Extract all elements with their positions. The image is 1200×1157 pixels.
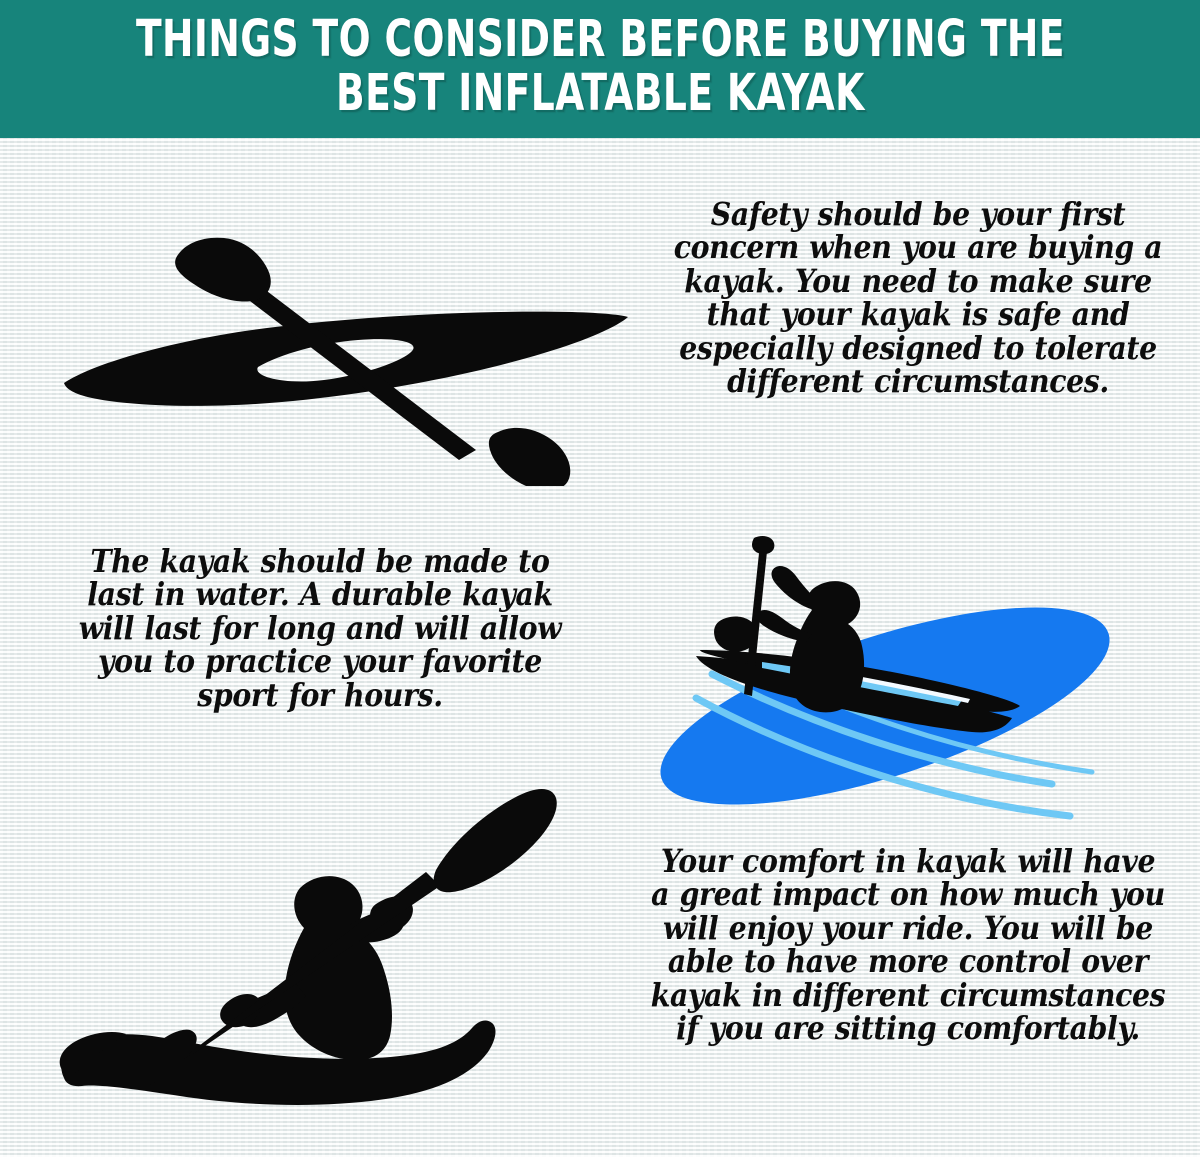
- kayaker-paddling-icon: [48, 778, 623, 1118]
- canoeist-on-water-icon: [600, 516, 1170, 846]
- durability-paragraph: The kayak should be made to last in wate…: [73, 545, 566, 712]
- infographic-root: Things To Consider Before Buying The Bes…: [0, 0, 1200, 1157]
- safety-paragraph: Safety should be your first concern when…: [668, 198, 1168, 398]
- canoeist-illustration: [600, 516, 1170, 846]
- kayak-with-paddle-illustration: [52, 236, 632, 486]
- kayak-with-paddle-icon: [52, 236, 632, 486]
- kayaker-illustration: [48, 778, 623, 1118]
- header-banner: Things To Consider Before Buying The Bes…: [0, 0, 1200, 138]
- comfort-paragraph: Your comfort in kayak will have a great …: [651, 845, 1166, 1045]
- page-title-line-1: Things To Consider Before Buying The: [136, 14, 1065, 66]
- page-title-line-2: Best Inflatable Kayak: [336, 68, 865, 120]
